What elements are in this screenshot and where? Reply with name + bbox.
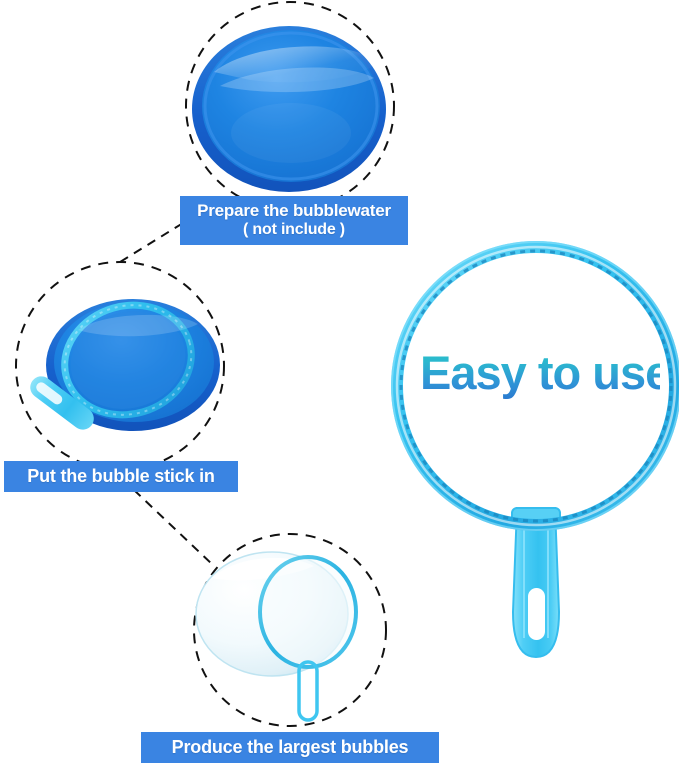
hero-handle-slot <box>528 588 545 640</box>
step-3-label-line1: Produce the largest bubbles <box>172 737 409 758</box>
connector-step2-step3 <box>134 490 214 566</box>
step-2-label: Put the bubble stick in <box>4 461 238 492</box>
step-2-illustration <box>16 262 224 470</box>
step-1-label-line2: ( not include ) <box>243 221 345 240</box>
product-instruction-infographic: Easy to use Prepare the bubblewater ( no… <box>0 0 679 766</box>
step-1-illustration <box>186 2 394 210</box>
step-3-illustration <box>194 534 386 726</box>
step-2-label-line1: Put the bubble stick in <box>27 466 214 487</box>
tray-soft-glow <box>231 103 351 163</box>
step-1-label-line1: Prepare the bubblewater <box>197 201 391 221</box>
wand-handle-slot-step3 <box>302 693 314 717</box>
hero-headline: Easy to use <box>420 345 660 400</box>
step-3-label: Produce the largest bubbles <box>141 732 439 763</box>
hero-bubble-wand <box>392 242 679 657</box>
step-1-label: Prepare the bubblewater ( not include ) <box>180 196 408 245</box>
